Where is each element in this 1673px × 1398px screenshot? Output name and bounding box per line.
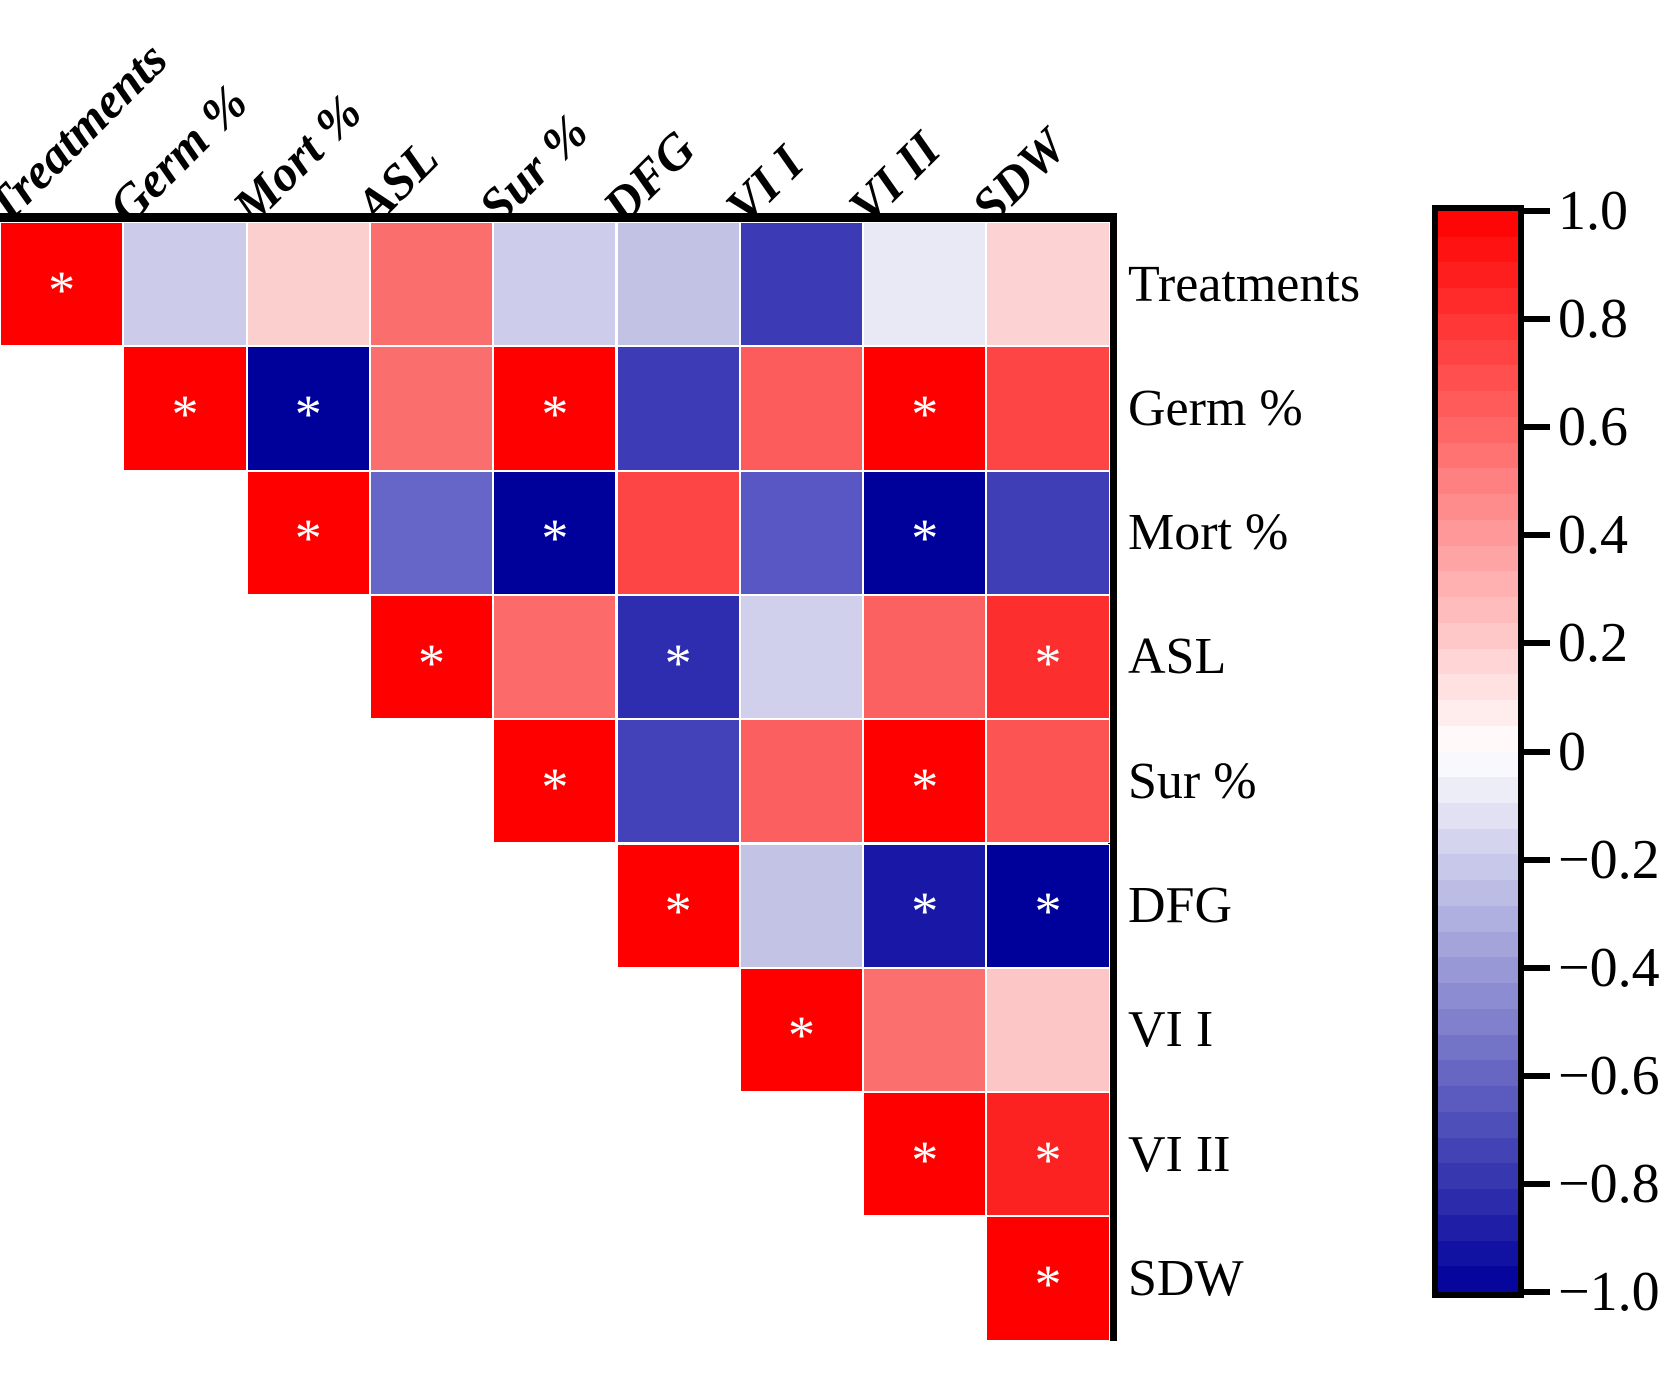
- significance-asterisk: *: [911, 774, 938, 801]
- significance-asterisk: *: [1035, 1147, 1062, 1174]
- colorbar-band: [1438, 649, 1518, 675]
- colorbar-legend: 1.00.80.60.40.20−0.2−0.4−0.6−0.8−1.0: [1432, 205, 1673, 1353]
- colorbar-tick: [1524, 316, 1550, 322]
- heatmap-cell: [617, 346, 740, 470]
- significance-asterisk: *: [541, 525, 568, 552]
- row-label-9: SDW: [1128, 1216, 1244, 1340]
- colorbar-band: [1438, 726, 1518, 752]
- heatmap-cell: [740, 222, 863, 346]
- colorbar-tick: [1524, 640, 1550, 646]
- heatmap-cell: *: [617, 595, 740, 719]
- colorbar-band: [1438, 623, 1518, 649]
- heatmap-cell: *: [986, 1216, 1109, 1340]
- colorbar-band: [1438, 854, 1518, 880]
- colorbar-tick-label: 0.6: [1558, 399, 1628, 455]
- heatmap-cell: [617, 222, 740, 346]
- significance-asterisk: *: [541, 774, 568, 801]
- colorbar-band: [1438, 932, 1518, 958]
- colorbar-tick-label: 0: [1558, 724, 1586, 780]
- heatmap-cell: [986, 471, 1109, 595]
- heatmap-cell: [493, 595, 616, 719]
- colorbar-tick-label: −0.4: [1558, 940, 1660, 996]
- heatmap-cell: [493, 222, 616, 346]
- heatmap-cell: *: [863, 844, 986, 968]
- heatmap-matrix: ********************: [0, 213, 1117, 1343]
- colorbar-tick: [1524, 749, 1550, 755]
- colorbar-band: [1438, 803, 1518, 829]
- significance-asterisk: *: [665, 650, 692, 677]
- row-label-1: Treatments: [1128, 222, 1360, 346]
- heatmap-cell: *: [986, 1092, 1109, 1216]
- heatmap-cell: *: [247, 346, 370, 470]
- colorbar-band: [1438, 752, 1518, 778]
- heatmap-cell: [370, 346, 493, 470]
- colorbar-band: [1438, 443, 1518, 469]
- colorbar-band: [1438, 1189, 1518, 1215]
- colorbar-band: [1438, 1009, 1518, 1035]
- colorbar-band: [1438, 829, 1518, 855]
- significance-asterisk: *: [1035, 898, 1062, 925]
- colorbar-tick: [1524, 1181, 1550, 1187]
- heatmap-cell: [863, 222, 986, 346]
- colorbar-band: [1438, 1163, 1518, 1189]
- heatmap-cell: *: [370, 595, 493, 719]
- colorbar-tick-label: 0.2: [1558, 615, 1628, 671]
- heatmap-cell: [740, 719, 863, 843]
- heatmap-cell: [986, 968, 1109, 1092]
- heatmap-cell: [247, 222, 370, 346]
- colorbar-band: [1438, 546, 1518, 572]
- colorbar-tick-label: 0.8: [1558, 291, 1628, 347]
- colorbar-band: [1438, 520, 1518, 546]
- row-label-6: DFG: [1128, 844, 1232, 968]
- colorbar-band: [1438, 288, 1518, 314]
- colorbar-band: [1438, 211, 1518, 237]
- heatmap-cell-grid: ********************: [0, 222, 1110, 1341]
- colorbar-band: [1438, 1138, 1518, 1164]
- significance-asterisk: *: [171, 401, 198, 428]
- colorbar-tick: [1524, 1289, 1550, 1295]
- heatmap-cell: [863, 968, 986, 1092]
- heatmap-cell: *: [863, 346, 986, 470]
- column-label-axis: TreatmentsGerm %Mort %ASLSur %DFGVI IVI …: [0, 0, 1120, 232]
- colorbar-band: [1438, 957, 1518, 983]
- colorbar-band: [1438, 417, 1518, 443]
- colorbar-tick: [1524, 532, 1550, 538]
- significance-asterisk: *: [1035, 650, 1062, 677]
- colorbar-band: [1438, 571, 1518, 597]
- heatmap-cell: [863, 595, 986, 719]
- heatmap-cell: *: [986, 595, 1109, 719]
- colorbar-band: [1438, 262, 1518, 288]
- colorbar-tick: [1524, 424, 1550, 430]
- colorbar-band: [1438, 1035, 1518, 1061]
- colorbar-gradient-box: [1432, 205, 1524, 1298]
- heatmap-cell: *: [863, 471, 986, 595]
- colorbar-tick-label: −0.8: [1558, 1156, 1660, 1212]
- significance-asterisk: *: [911, 401, 938, 428]
- heatmap-cell: *: [863, 719, 986, 843]
- heatmap-cell: [740, 346, 863, 470]
- significance-asterisk: *: [541, 401, 568, 428]
- heatmap-cell: [740, 844, 863, 968]
- colorbar-gradient: [1438, 211, 1518, 1292]
- colorbar-band: [1438, 365, 1518, 391]
- colorbar-band: [1438, 1060, 1518, 1086]
- significance-asterisk: *: [418, 650, 445, 677]
- colorbar-band: [1438, 1086, 1518, 1112]
- row-label-4: ASL: [1128, 595, 1226, 719]
- heatmap-cell: *: [493, 719, 616, 843]
- colorbar-band: [1438, 1215, 1518, 1241]
- colorbar-tick-label: −1.0: [1558, 1264, 1660, 1320]
- colorbar-band: [1438, 700, 1518, 726]
- colorbar-band: [1438, 391, 1518, 417]
- significance-asterisk: *: [48, 277, 75, 304]
- heatmap-cell: [986, 719, 1109, 843]
- colorbar-tick: [1524, 208, 1550, 214]
- significance-asterisk: *: [665, 898, 692, 925]
- heatmap-cell: *: [493, 471, 616, 595]
- matrix-top-border: [0, 213, 1114, 222]
- heatmap-cell: *: [617, 844, 740, 968]
- heatmap-cell: [986, 346, 1109, 470]
- heatmap-cell: [370, 222, 493, 346]
- heatmap-cell: *: [493, 346, 616, 470]
- heatmap-cell: [617, 719, 740, 843]
- significance-asterisk: *: [295, 401, 322, 428]
- colorbar-tick: [1524, 1073, 1550, 1079]
- colorbar-tick-label: 0.4: [1558, 507, 1628, 563]
- colorbar-tick: [1524, 965, 1550, 971]
- colorbar-band: [1438, 1266, 1518, 1292]
- colorbar-tick-label: −0.6: [1558, 1048, 1660, 1104]
- colorbar-band: [1438, 1241, 1518, 1267]
- heatmap-cell: [986, 222, 1109, 346]
- significance-asterisk: *: [1035, 1271, 1062, 1298]
- colorbar-band: [1438, 674, 1518, 700]
- colorbar-band: [1438, 983, 1518, 1009]
- row-label-2: Germ %: [1128, 346, 1303, 470]
- colorbar-band: [1438, 468, 1518, 494]
- significance-asterisk: *: [295, 525, 322, 552]
- colorbar-band: [1438, 494, 1518, 520]
- heatmap-cell: *: [0, 222, 123, 346]
- heatmap-cell: [740, 595, 863, 719]
- heatmap-cell: *: [740, 968, 863, 1092]
- heatmap-cell: *: [123, 346, 246, 470]
- colorbar-tick-label: −0.2: [1558, 832, 1660, 888]
- colorbar-band: [1438, 1112, 1518, 1138]
- colorbar-band: [1438, 597, 1518, 623]
- heatmap-cell: *: [247, 471, 370, 595]
- row-label-3: Mort %: [1128, 471, 1288, 595]
- heatmap-cell: [123, 222, 246, 346]
- colorbar-band: [1438, 340, 1518, 366]
- significance-asterisk: *: [788, 1022, 815, 1049]
- heatmap-cell: [370, 471, 493, 595]
- colorbar-band: [1438, 880, 1518, 906]
- colorbar-tick: [1524, 857, 1550, 863]
- colorbar-tick-label: 1.0: [1558, 183, 1628, 239]
- significance-asterisk: *: [911, 898, 938, 925]
- heatmap-cell: *: [863, 1092, 986, 1216]
- significance-asterisk: *: [911, 525, 938, 552]
- colorbar-band: [1438, 314, 1518, 340]
- heatmap-cell: [617, 471, 740, 595]
- colorbar-band: [1438, 777, 1518, 803]
- colorbar-band: [1438, 237, 1518, 263]
- heatmap-cell: *: [986, 844, 1109, 968]
- row-label-axis: TreatmentsGerm %Mort %ASLSur %DFGVI IVI …: [1128, 222, 1398, 1352]
- heatmap-cell: [740, 471, 863, 595]
- significance-asterisk: *: [911, 1147, 938, 1174]
- colorbar-band: [1438, 906, 1518, 932]
- row-label-5: Sur %: [1128, 719, 1257, 843]
- row-label-7: VI I: [1128, 968, 1213, 1092]
- row-label-8: VI II: [1128, 1092, 1231, 1216]
